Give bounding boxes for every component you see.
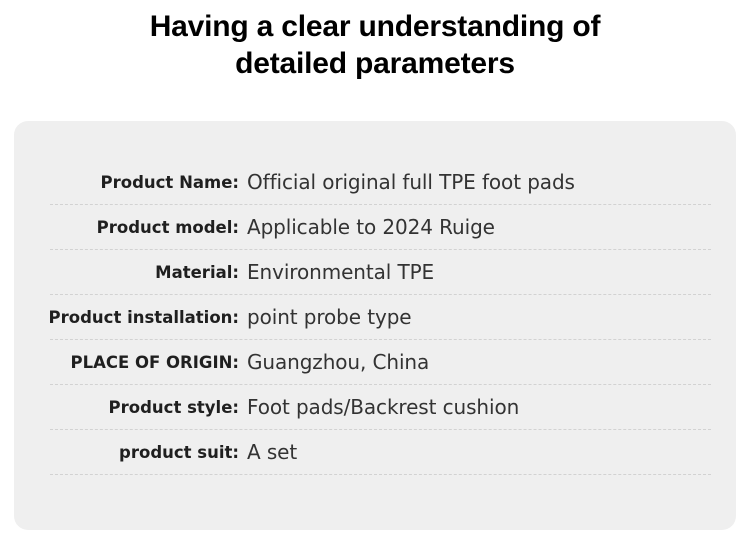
table-row: PLACE OF ORIGIN: Guangzhou, China: [14, 340, 736, 385]
table-row: Product installation: point probe type: [14, 295, 736, 340]
table-row: Product Name: Official original full TPE…: [14, 160, 736, 205]
spec-label-product-model: Product model:: [14, 218, 247, 238]
spec-label-product-name: Product Name:: [14, 173, 247, 193]
table-row: Product model: Applicable to 2024 Ruige: [14, 205, 736, 250]
spec-label-product-installation: Product installation:: [14, 308, 247, 328]
spec-table: Product Name: Official original full TPE…: [14, 160, 736, 475]
table-row: Material: Environmental TPE: [14, 250, 736, 295]
table-row: product suit: A set: [14, 430, 736, 475]
spec-value-material: Environmental TPE: [247, 260, 736, 285]
spec-label-product-style: Product style:: [14, 398, 247, 418]
spec-value-product-name: Official original full TPE foot pads: [247, 170, 736, 195]
spec-label-material: Material:: [14, 263, 247, 283]
spec-value-product-suit: A set: [247, 440, 736, 465]
table-row: Product style: Foot pads/Backrest cushio…: [14, 385, 736, 430]
spec-label-product-suit: product suit:: [14, 443, 247, 463]
spec-value-product-style: Foot pads/Backrest cushion: [247, 395, 736, 420]
spec-value-product-installation: point probe type: [247, 305, 736, 330]
spec-panel: Product Name: Official original full TPE…: [14, 121, 736, 530]
page-title: Having a clear understanding of detailed…: [0, 8, 750, 82]
spec-label-place-of-origin: PLACE OF ORIGIN:: [14, 353, 247, 373]
row-divider: [50, 474, 711, 475]
spec-value-place-of-origin: Guangzhou, China: [247, 350, 736, 375]
spec-value-product-model: Applicable to 2024 Ruige: [247, 215, 736, 240]
